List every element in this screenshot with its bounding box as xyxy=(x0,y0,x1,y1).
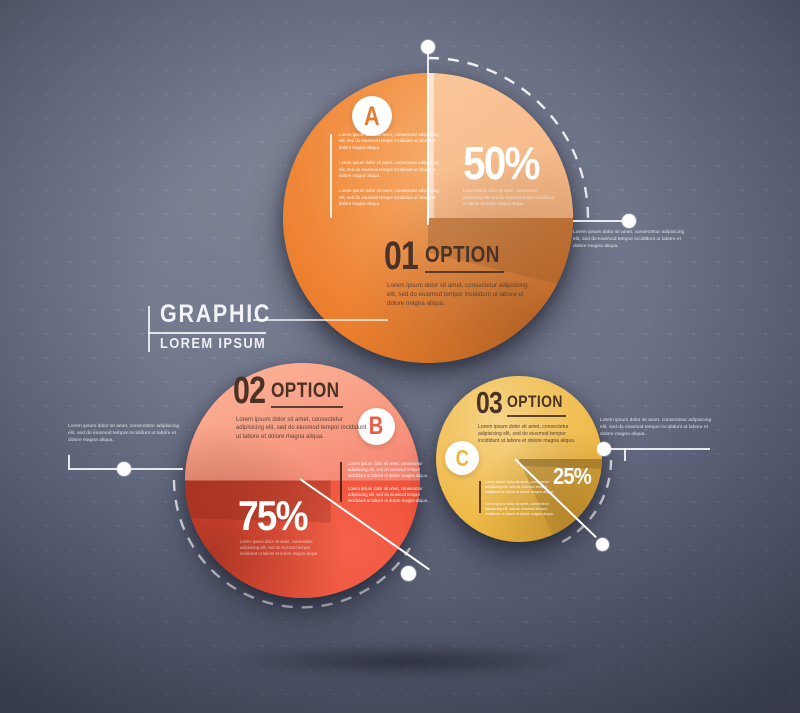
option-02-percent-group: 75% Lorem ipsum dolor sit amet, consecte… xyxy=(238,497,326,557)
option-01-note-rule xyxy=(330,134,332,218)
callout-left-tick xyxy=(68,455,70,469)
option-03-note-rule xyxy=(479,481,481,513)
option-02-note-rule xyxy=(340,462,342,502)
callout-right-top-dot[interactable] xyxy=(622,214,636,228)
option-01-percent: 50% xyxy=(463,143,539,184)
option-03-percent: 25% xyxy=(553,466,591,487)
option-03-percent-group: 25% xyxy=(553,466,596,489)
badge-option-01[interactable]: A xyxy=(352,96,392,136)
callout-right-top-line xyxy=(573,220,628,222)
option-02-body: Lorem ipsum dolor sit amet, consectetur … xyxy=(236,416,370,442)
title-connector-rule xyxy=(253,319,388,321)
option-03-number: 03 xyxy=(476,390,502,417)
option-02-percent: 75% xyxy=(238,497,307,535)
option-02-percent-note: Lorem ipsum dolor sit amet, consectetur … xyxy=(240,539,326,557)
option-01-note-1: Lorem ipsum dolor sit amet, consectetur … xyxy=(339,132,439,151)
callout-right-bottom[interactable]: Lorem ipsum dolor sit amet, consectetur … xyxy=(600,418,730,439)
page-title: GRAPHIC xyxy=(160,302,271,327)
badge-option-01-letter: A xyxy=(364,103,380,130)
badge-option-03[interactable]: C xyxy=(445,441,479,475)
option-03-leader-dot[interactable] xyxy=(596,538,609,551)
option-01-note-2: Lorem ipsum dolor sit amet, consectetur … xyxy=(339,160,439,179)
option-02-underline xyxy=(271,406,343,408)
callout-right-top-text: Lorem ipsum dolor sit amet, consectetur … xyxy=(573,230,689,251)
infographic-canvas: A Lorem ipsum dolor sit amet, consectetu… xyxy=(0,0,800,713)
callout-right-bottom-text: Lorem ipsum dolor sit amet, consectetur … xyxy=(600,418,720,439)
option-01-heading: 01 OPTION Lorem ipsum dolor sit amet, co… xyxy=(384,239,529,309)
option-03-word: OPTION xyxy=(507,393,563,410)
option-01-pin-stem xyxy=(427,52,429,222)
option-03-note-2: Lorem ipsum dolor sit amet, consectetur … xyxy=(485,502,557,518)
option-02-heading: 02 OPTION Lorem ipsum dolor sit amet, co… xyxy=(233,375,370,442)
option-01-word: OPTION xyxy=(425,243,500,266)
badge-option-03-letter: C xyxy=(455,447,468,470)
option-02-note-2: Lorem ipsum dolor sit amet, consectetur … xyxy=(348,486,436,504)
callout-left[interactable]: Lorem ipsum dolor sit amet, consectetur … xyxy=(68,424,194,445)
option-02-word: OPTION xyxy=(271,380,339,401)
option-02-leader-dot[interactable] xyxy=(401,566,416,581)
option-01-pin-dot[interactable] xyxy=(421,40,435,54)
option-01-percent-note: Lorem ipsum dolor sit amet, consectetur … xyxy=(463,188,555,207)
callout-right-bottom-line xyxy=(600,448,710,450)
option-01-percent-group: 50% Lorem ipsum dolor sit amet, consecte… xyxy=(463,143,555,207)
option-01-note-3: Lorem ipsum dolor sit amet, consectetur … xyxy=(339,188,439,207)
page-subtitle: LOREM IPSUM xyxy=(160,336,266,351)
callout-right-bottom-dot[interactable] xyxy=(597,442,611,456)
option-03-underline xyxy=(507,415,566,417)
option-03-body: Lorem ipsum dolor sit amet, consectetur … xyxy=(478,424,588,446)
option-02-number: 02 xyxy=(233,375,265,408)
option-01-underline xyxy=(425,271,504,273)
option-02-note-1: Lorem ipsum dolor sit amet, consectetur … xyxy=(348,461,436,479)
badge-option-02-letter: B xyxy=(369,414,383,439)
option-01-body: Lorem ipsum dolor sit amet, consectetur … xyxy=(387,282,529,309)
callout-left-dot[interactable] xyxy=(117,462,131,476)
callout-right-bottom-tick xyxy=(624,448,626,461)
option-03-heading: 03 OPTION Lorem ipsum dolor sit amet, co… xyxy=(476,390,588,446)
callout-left-text: Lorem ipsum dolor sit amet, consectetur … xyxy=(68,424,184,445)
callout-right-top[interactable]: Lorem ipsum dolor sit amet, consectetur … xyxy=(573,214,699,251)
title-horizontal-rule xyxy=(148,332,266,334)
title-vertical-rule xyxy=(148,306,150,352)
title-block: GRAPHIC LOREM IPSUM xyxy=(148,302,338,353)
option-01-number: 01 xyxy=(384,239,418,273)
